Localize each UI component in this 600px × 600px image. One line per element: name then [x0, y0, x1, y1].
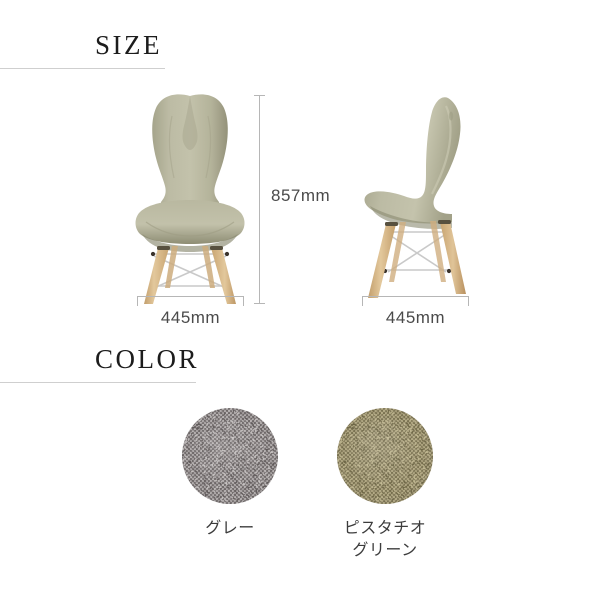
height-dimension-stem [259, 95, 260, 304]
color-swatch-pistachio-green-label-line2: グリーン [305, 540, 465, 562]
color-swatch-grey-circle[interactable] [182, 408, 278, 504]
chair-leg-left [368, 224, 396, 298]
color-swatch-pistachio-green-circle[interactable] [337, 408, 433, 504]
front-width-dimension-stem [137, 296, 244, 297]
color-swatch-grey-caption: グレー [150, 518, 310, 540]
color-swatch-grey-texture [182, 408, 278, 504]
chair-side-view-illustration [352, 82, 492, 307]
color-section-heading: COLOR [0, 346, 600, 386]
front-width-dimension-cap-right [243, 296, 244, 306]
chair-side-view-figure [352, 82, 492, 307]
size-heading-label: SIZE [95, 32, 162, 59]
side-width-dimension-line [362, 296, 469, 306]
side-width-dimension-cap-right [468, 296, 469, 306]
front-width-dimension-cap-left [137, 296, 138, 306]
front-width-dimension-label: 445mm [137, 308, 244, 328]
color-swatch-pistachio-green-caption: ピスタチオ グリーン [305, 518, 465, 561]
color-swatch-pistachio-green-label-line1: ピスタチオ [344, 520, 427, 537]
front-width-dimension-line [137, 296, 244, 306]
color-swatch-grey-label-line1: グレー [205, 520, 255, 537]
height-dimension-label: 857mm [271, 186, 330, 206]
color-swatch-pistachio-green-texture [337, 408, 433, 504]
size-section-heading: SIZE [0, 32, 600, 72]
size-heading-rule [0, 68, 165, 69]
height-dimension-cap-bottom [254, 303, 265, 304]
side-width-dimension-stem [362, 296, 469, 297]
chair-front-view-illustration [120, 82, 260, 307]
chair-leg-right [440, 222, 466, 294]
spec-sheet-page: SIZE [0, 0, 600, 600]
chair-seat-shape [136, 200, 245, 244]
side-width-dimension-label: 445mm [362, 308, 469, 328]
height-dimension-line [254, 95, 265, 304]
color-swatch-grey[interactable]: グレー [150, 408, 310, 540]
chair-front-view-figure [120, 82, 260, 307]
side-width-dimension-cap-left [362, 296, 363, 306]
color-heading-rule [0, 382, 196, 383]
color-heading-label: COLOR [95, 346, 199, 373]
color-swatch-pistachio-green[interactable]: ピスタチオ グリーン [305, 408, 465, 561]
